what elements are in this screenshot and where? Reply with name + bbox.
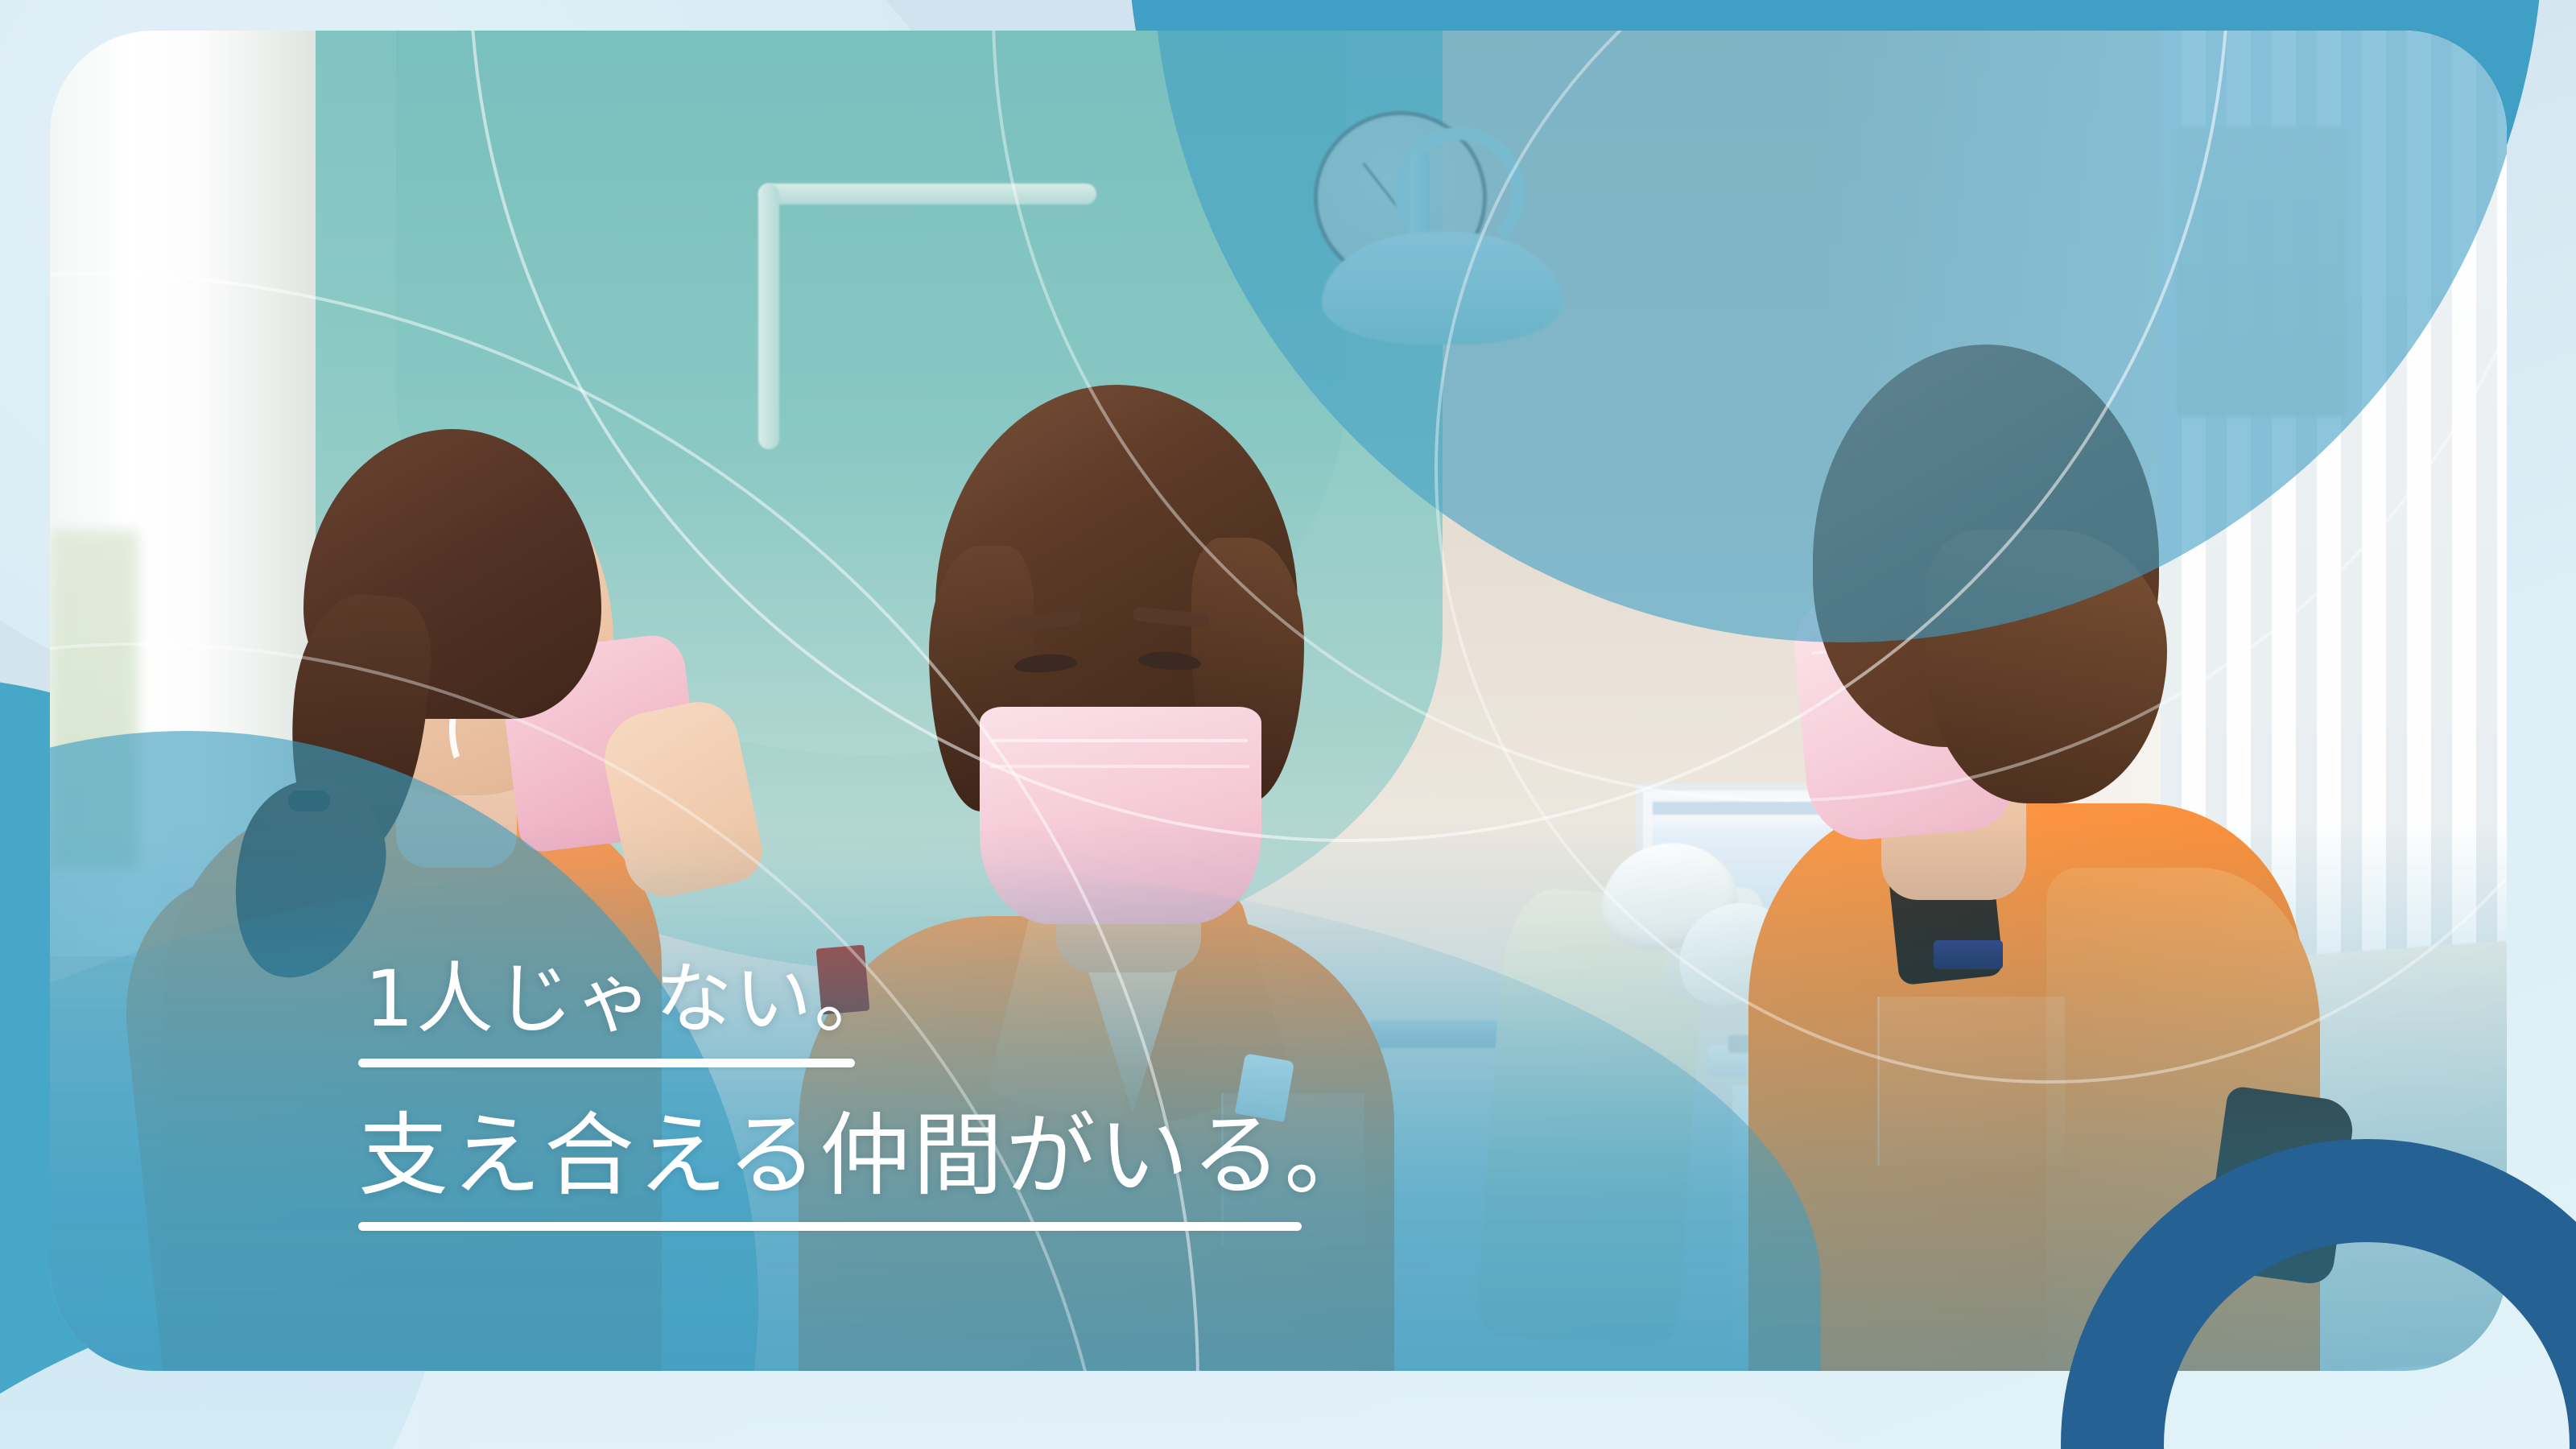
- headline-rule-1: [358, 1059, 855, 1067]
- headline-block: 1人じゃない。 支え合える仲間がいる。: [358, 960, 1485, 1231]
- hero-photo: 1人じゃない。 支え合える仲間がいる。: [50, 31, 2507, 1371]
- headline-line-1: 1人じゃない。: [358, 960, 1485, 1038]
- hero-banner: 1人じゃない。 支え合える仲間がいる。: [0, 0, 2576, 1449]
- headline-line-2: 支え合える仲間がいる。: [358, 1111, 1485, 1201]
- headline-rule-2: [358, 1222, 1302, 1231]
